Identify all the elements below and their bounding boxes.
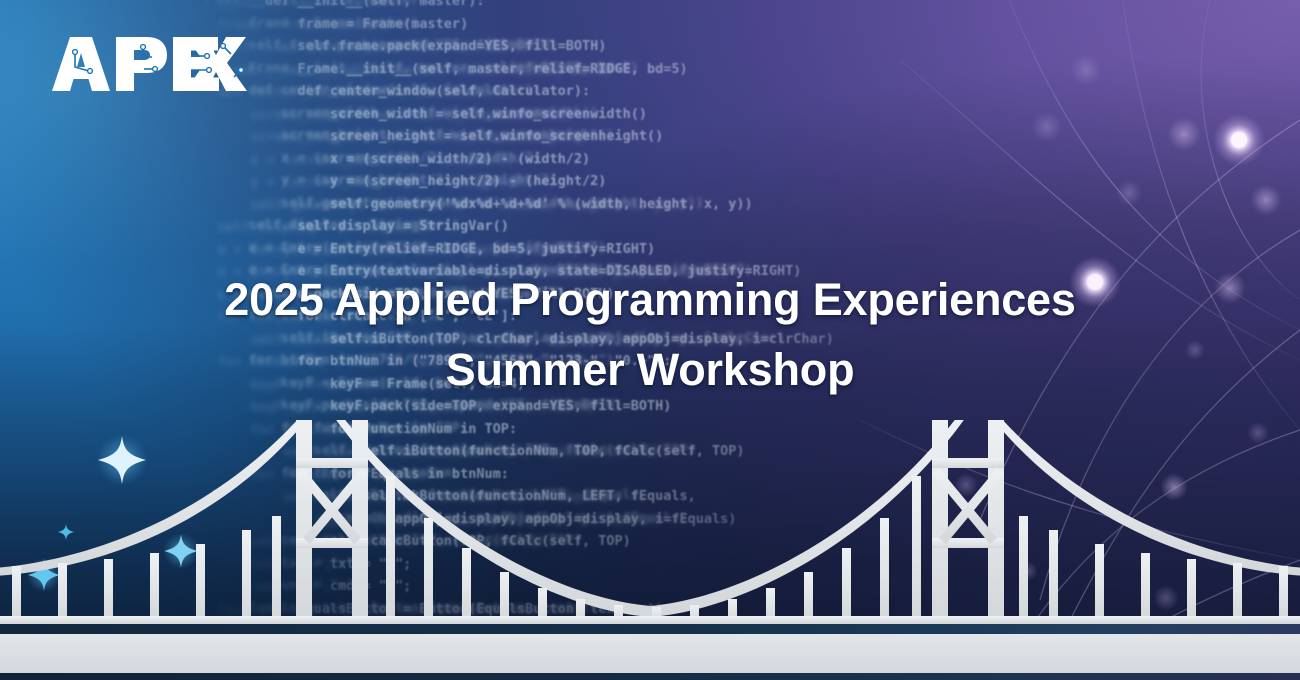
bridge-structure (0, 420, 1300, 624)
title-line-1: 2025 Applied Programming Experiences (60, 265, 1240, 335)
deck-bottom-stripe (0, 673, 1300, 680)
deck-top-stripe (0, 624, 1300, 634)
deck-band (0, 634, 1300, 674)
workshop-banner: def __init__(self, master): frame = Fram… (0, 0, 1300, 680)
apex-wordmark (52, 37, 247, 91)
banner-title: 2025 Applied Programming Experiences Sum… (0, 265, 1300, 405)
apex-logo[interactable] (48, 33, 248, 95)
title-line-2: Summer Workshop (60, 335, 1240, 405)
